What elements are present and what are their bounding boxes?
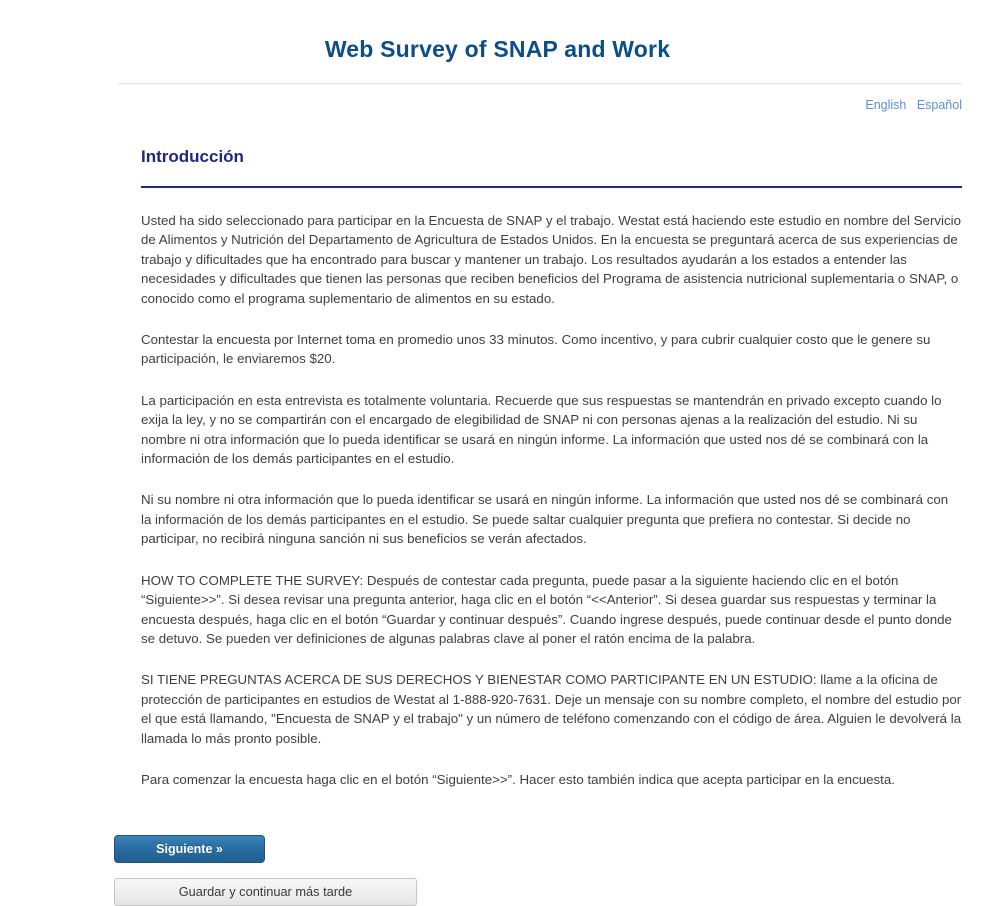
language-separator [910, 98, 913, 112]
header-divider [118, 83, 962, 84]
page-title: Web Survey of SNAP and Work [0, 36, 995, 63]
language-link-spanish[interactable]: Español [917, 98, 962, 112]
paragraph-7: Para comenzar la encuesta haga clic en e… [141, 770, 962, 789]
paragraph-1: Usted ha sido seleccionado para particip… [141, 211, 962, 308]
paragraph-3: La participación en esta entrevista es t… [141, 391, 962, 469]
section-divider [141, 186, 962, 188]
paragraph-6: SI TIENE PREGUNTAS ACERCA DE SUS DERECHO… [141, 670, 962, 748]
paragraph-5: HOW TO COMPLETE THE SURVEY: Después de c… [141, 571, 962, 649]
form-actions: Siguiente » Guardar y continuar más tard… [114, 835, 995, 906]
language-selector: English Español [0, 98, 995, 112]
survey-content: Introducción Usted ha sido seleccionado … [141, 147, 962, 789]
page-header: Web Survey of SNAP and Work [0, 0, 995, 84]
paragraph-2: Contestar la encuesta por Internet toma … [141, 330, 962, 369]
introduction-text: Usted ha sido seleccionado para particip… [141, 211, 962, 789]
save-and-continue-later-button[interactable]: Guardar y continuar más tarde [114, 878, 417, 906]
next-button[interactable]: Siguiente » [114, 835, 265, 863]
survey-page: Web Survey of SNAP and Work English Espa… [0, 0, 995, 885]
paragraph-4: Ni su nombre ni otra información que lo … [141, 490, 962, 548]
language-link-english[interactable]: English [865, 98, 906, 112]
section-heading: Introducción [141, 147, 962, 167]
